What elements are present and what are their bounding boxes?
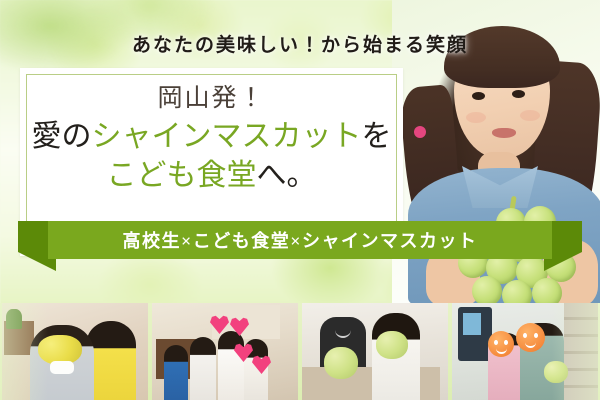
face-mask [50, 361, 74, 374]
cheek-left [466, 112, 486, 123]
ribbon-label: 高校生×こども食堂×シャインマスカット [122, 227, 477, 253]
photo-child-with-grapes-at-desk [302, 303, 448, 400]
headline-line-2: 愛のシャインマスカットを [20, 117, 403, 156]
headline-line-2-suffix: を [362, 120, 392, 153]
headline-line-3-keyword: こども食堂 [107, 159, 257, 192]
plant [6, 309, 22, 329]
ribbon-body: 高校生×こども食堂×シャインマスカット [48, 221, 552, 259]
poster: あなたの美味しい！から始まる笑顔 岡山発！ 愛のシャインマスカットを こども食堂… [0, 0, 600, 400]
photo-kids-holding-grapes [2, 303, 148, 400]
photo-kids-cooking-table [152, 303, 298, 400]
smiley-emoji-mask-1 [488, 331, 514, 357]
child-white-shirt-b [218, 331, 244, 400]
headline-line-2-keyword: シャインマスカット [92, 120, 362, 153]
grape-bunch-right [376, 331, 408, 359]
eye-left [472, 92, 485, 100]
headline-line-3: こども食堂へ。 [20, 156, 403, 195]
headline-line-1: 岡山発！ [20, 82, 403, 115]
photo-two-children-smiling [452, 303, 598, 400]
mouth [492, 128, 516, 138]
child-white-shirt-a [190, 337, 216, 400]
headline: 岡山発！ 愛のシャインマスカットを こども食堂へ。 [20, 82, 403, 195]
grape-bunch [544, 361, 568, 383]
vending-machine-panel [463, 313, 481, 335]
headline-line-2-prefix: 愛の [32, 120, 92, 153]
photo-strip [0, 303, 600, 400]
ribbon-banner: 高校生×こども食堂×シャインマスカット [0, 221, 600, 277]
eye-right [512, 90, 525, 98]
tagline: あなたの美味しい！から始まる笑顔 [0, 30, 600, 57]
hair-tie [414, 126, 426, 138]
smiley-emoji-mask-2 [516, 323, 545, 352]
headline-line-3-suffix: へ。 [257, 159, 317, 192]
grape-bunch-left [324, 347, 358, 379]
child-blue-shirt [164, 345, 188, 400]
cheek-right [520, 110, 540, 121]
bookshelf [564, 303, 598, 400]
